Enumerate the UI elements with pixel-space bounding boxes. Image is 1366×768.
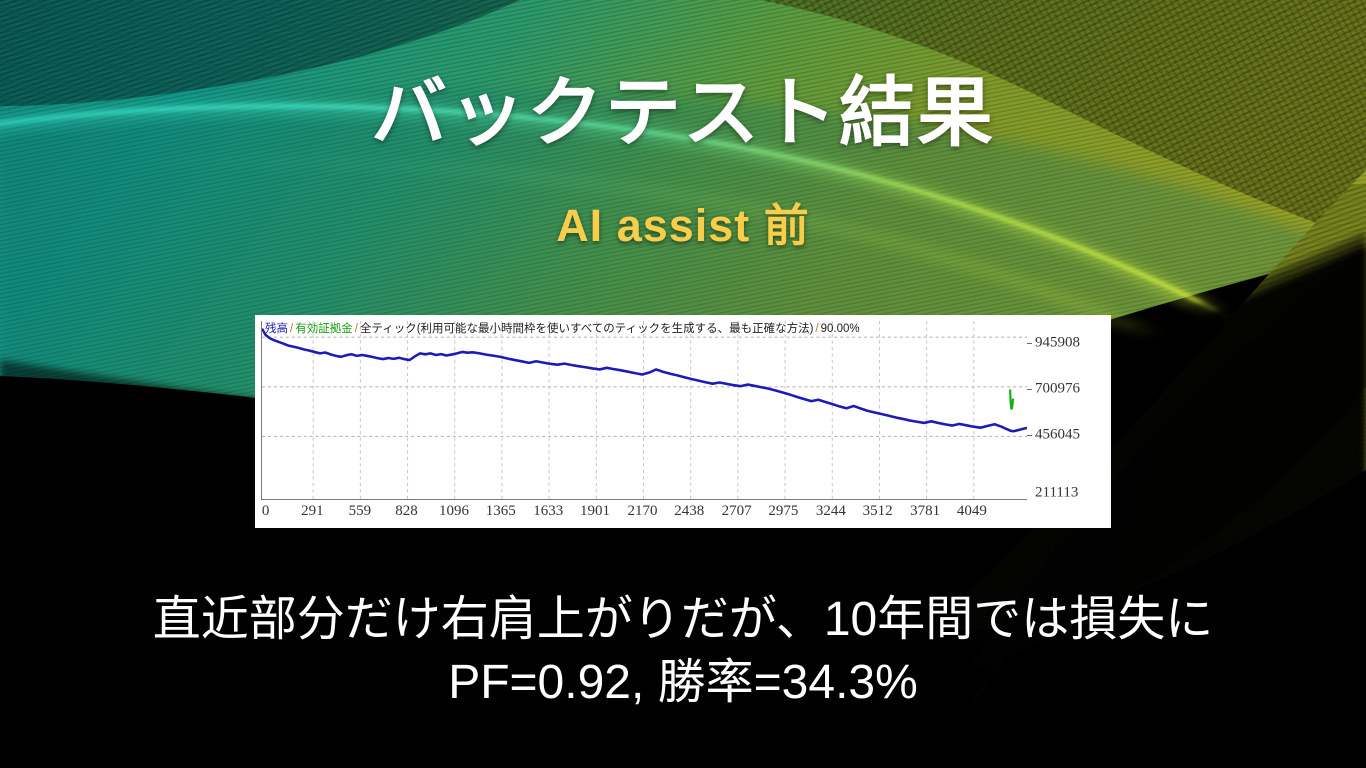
y-axis-label: 700976 bbox=[1035, 381, 1080, 398]
x-axis-label: 291 bbox=[301, 503, 324, 520]
x-axis-label: 559 bbox=[349, 503, 372, 520]
x-axis-label: 2707 bbox=[722, 503, 752, 520]
x-axis-row: 0 291 559 828 1096 1365 1633 1901 2170 2… bbox=[261, 500, 1105, 524]
x-axis-label: 2975 bbox=[768, 503, 798, 520]
caption-line-2: PF=0.92, 勝率=34.3% bbox=[0, 651, 1366, 714]
x-axis-label: 1096 bbox=[439, 503, 469, 520]
legend-tick-mode: 全ティック(利用可能な最小時間枠を使いすべてのティックを生成する、最も正確な方法… bbox=[360, 323, 814, 335]
y-tick-mark bbox=[1027, 435, 1032, 436]
plot-area: 残高/有効証拠金/全ティック(利用可能な最小時間枠を使いすべてのティックを生成す… bbox=[261, 321, 1027, 500]
chart-plot-region: 残高/有効証拠金/全ティック(利用可能な最小時間枠を使いすべてのティックを生成す… bbox=[261, 321, 1105, 500]
x-axis-label: 0 bbox=[262, 503, 270, 520]
legend-equity-label: 有効証拠金 bbox=[295, 323, 353, 335]
x-axis-label: 3244 bbox=[816, 503, 846, 520]
y-axis: 945908 700976 456045 211113 bbox=[1027, 321, 1105, 500]
x-axis-label: 2438 bbox=[674, 503, 704, 520]
page-title: バックテスト結果 bbox=[0, 76, 1366, 152]
y-axis-label: 945908 bbox=[1035, 335, 1080, 352]
grid-vertical bbox=[313, 321, 974, 499]
chart-inner: 残高/有効証拠金/全ティック(利用可能な最小時間枠を使いすべてのティックを生成す… bbox=[261, 321, 1105, 524]
y-axis-label: 456045 bbox=[1035, 427, 1080, 444]
x-axis-label: 1365 bbox=[486, 503, 516, 520]
balance-line bbox=[263, 330, 1026, 432]
x-axis-label: 3781 bbox=[910, 503, 940, 520]
page-subtitle-container: AI assist 前 bbox=[0, 203, 1366, 248]
chart-legend: 残高/有効証拠金/全ティック(利用可能な最小時間枠を使いすべてのティックを生成す… bbox=[265, 322, 860, 336]
x-axis-label: 4049 bbox=[957, 503, 987, 520]
backtest-chart-panel: 残高/有効証拠金/全ティック(利用可能な最小時間枠を使いすべてのティックを生成す… bbox=[255, 315, 1111, 528]
y-tick-mark bbox=[1027, 389, 1032, 390]
x-axis-label: 2170 bbox=[627, 503, 657, 520]
equity-curve-svg bbox=[262, 321, 1027, 499]
x-axis-label: 1633 bbox=[533, 503, 563, 520]
caption-container: 直近部分だけ右肩上がりだが、10年間では損失に PF=0.92, 勝率=34.3… bbox=[0, 588, 1366, 715]
page-subtitle: AI assist 前 bbox=[0, 203, 1366, 248]
slide-root: バックテスト結果 AI assist 前 残高/有効証拠金/全ティック(利用可能… bbox=[0, 0, 1366, 768]
caption-line-1: 直近部分だけ右肩上がりだが、10年間では損失に bbox=[0, 588, 1366, 651]
equity-line bbox=[1010, 390, 1013, 410]
legend-separator-2: / bbox=[353, 323, 360, 335]
legend-modelling-quality: 90.00% bbox=[821, 323, 860, 335]
y-tick-mark bbox=[1027, 343, 1032, 344]
page-title-container: バックテスト結果 bbox=[0, 76, 1366, 152]
x-axis: 0 291 559 828 1096 1365 1633 1901 2170 2… bbox=[261, 500, 1027, 524]
y-axis-label: 211113 bbox=[1035, 485, 1078, 502]
x-axis-label: 3512 bbox=[863, 503, 893, 520]
legend-separator-3: / bbox=[813, 323, 820, 335]
x-axis-spacer bbox=[1027, 500, 1105, 524]
x-axis-label: 828 bbox=[395, 503, 418, 520]
legend-balance-label: 残高 bbox=[265, 323, 288, 335]
x-axis-label: 1901 bbox=[580, 503, 610, 520]
